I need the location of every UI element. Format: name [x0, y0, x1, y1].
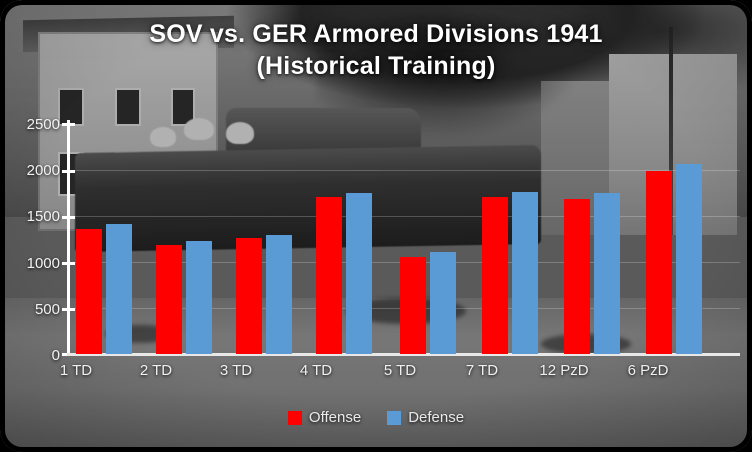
bar-offense[interactable]	[316, 197, 342, 354]
x-tick-label: 6 PzD	[606, 362, 690, 379]
chart-legend: Offense Defense	[0, 409, 752, 426]
bar-group	[156, 120, 216, 354]
x-tick-label: 12 PzD	[522, 362, 606, 379]
bar-group	[564, 120, 624, 354]
x-tick-label: 4 TD	[274, 362, 358, 379]
bar-offense[interactable]	[564, 199, 590, 354]
x-tick-label: 2 TD	[114, 362, 198, 379]
bar-offense[interactable]	[156, 245, 182, 354]
bar-offense[interactable]	[236, 238, 262, 354]
bar-offense[interactable]	[482, 197, 508, 354]
y-tick-label: 1000	[12, 256, 60, 271]
bar-group	[236, 120, 296, 354]
chart-title-line1: SOV vs. GER Armored Divisions 1941	[149, 20, 602, 48]
bar-group	[646, 120, 706, 354]
bar-group	[482, 120, 542, 354]
bar-chart: SOV vs. GER Armored Divisions 1941 (Hist…	[0, 0, 752, 452]
bar-defense[interactable]	[594, 193, 620, 354]
bar-defense[interactable]	[266, 235, 292, 354]
legend-swatch-offense	[288, 411, 302, 425]
chart-frame: SOV vs. GER Armored Divisions 1941 (Hist…	[0, 0, 752, 452]
y-tick-label: 2000	[12, 163, 60, 178]
y-axis-labels: 2500 2000 1500 1000 500 0	[8, 0, 60, 452]
bar-offense[interactable]	[400, 257, 426, 354]
y-tick-label: 500	[12, 302, 60, 317]
bar-group	[76, 120, 136, 354]
bar-group	[316, 120, 376, 354]
y-tick-label: 1500	[12, 209, 60, 224]
bar-defense[interactable]	[512, 192, 538, 354]
legend-item-defense[interactable]: Defense	[387, 409, 464, 426]
plot-area	[70, 120, 740, 354]
bar-defense[interactable]	[676, 164, 702, 354]
x-tick-label: 5 TD	[358, 362, 442, 379]
bar-offense[interactable]	[646, 171, 672, 354]
legend-label-defense: Defense	[408, 409, 464, 426]
y-tick-label: 0	[12, 348, 60, 363]
legend-label-offense: Offense	[309, 409, 361, 426]
chart-title: SOV vs. GER Armored Divisions 1941 (Hist…	[0, 18, 752, 82]
y-tick-label: 2500	[12, 117, 60, 132]
bar-defense[interactable]	[430, 252, 456, 354]
bar-offense[interactable]	[76, 229, 102, 354]
x-tick-label: 1 TD	[34, 362, 118, 379]
bar-defense[interactable]	[186, 241, 212, 354]
legend-swatch-defense	[387, 411, 401, 425]
legend-item-offense[interactable]: Offense	[288, 409, 361, 426]
bar-group	[400, 120, 460, 354]
chart-title-line2: (Historical Training)	[0, 50, 752, 82]
x-tick-label: 3 TD	[194, 362, 278, 379]
bar-defense[interactable]	[106, 224, 132, 354]
bar-defense[interactable]	[346, 193, 372, 354]
x-tick-label: 7 TD	[440, 362, 524, 379]
